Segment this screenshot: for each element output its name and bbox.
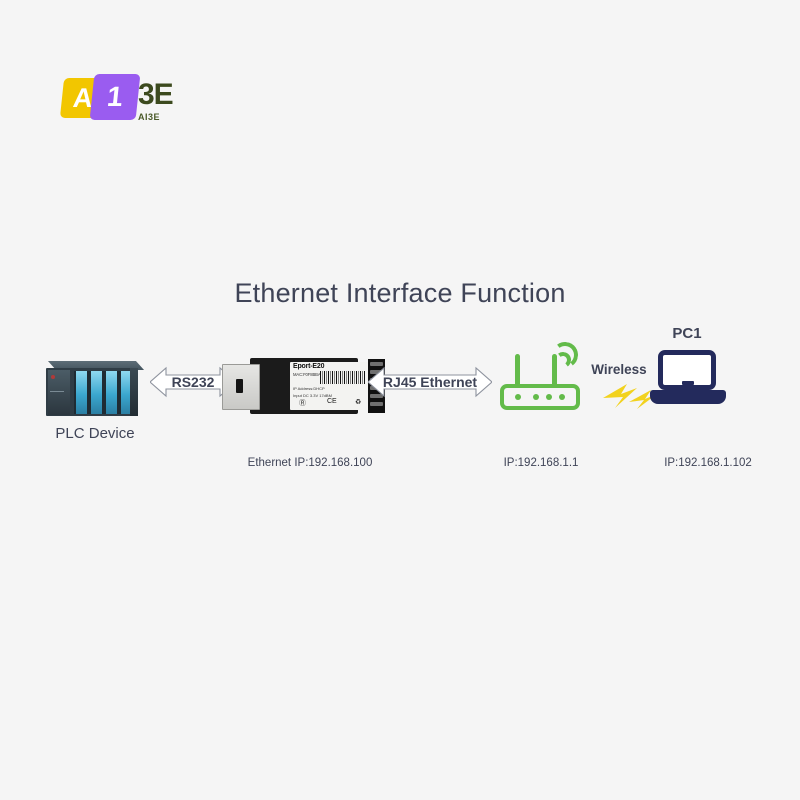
diagram-canvas: A 1 3E AI3E Ethernet Interface Function … [0,0,800,800]
laptop-base [650,390,726,404]
logo-subtext: AI3E [138,112,160,122]
pc1-ip-label: IP:192.168.1.102 [608,457,800,469]
eport-model-text: Eport-E20 [293,363,324,370]
lightning-bolt-icon [601,382,657,410]
laptop-graphic [650,350,726,406]
eport-certification-marks: Ⓡ CE ♻ [293,398,369,410]
logo-tile-one: 1 [90,74,141,120]
plc-io-slot [104,371,119,414]
eport-pcb: Eport-E20 MAC:F0F8BBA26D IP Address:DHCP… [250,358,358,414]
router-antenna [515,354,520,388]
eport-label-sticker: Eport-E20 MAC:F0F8BBA26D IP Address:DHCP… [290,362,372,410]
plc-status-led [51,375,55,379]
pc1-label: PC1 [622,325,752,342]
link-rj45: RJ45 Ethernet [368,362,492,402]
lightning-bolt-shape [601,382,657,410]
plc-cpu-line [50,391,64,392]
eport-serial-connector [222,364,260,410]
router-led [515,394,521,400]
laptop-trackpad [682,381,694,385]
eport-connector-slot [236,379,243,393]
plc-io-slot [74,371,89,414]
plc-device-graphic [46,361,142,419]
eport-barcode [320,371,366,384]
router-led [559,394,565,400]
ce-mark: CE [327,398,337,405]
plc-device-label: PLC Device [0,425,190,442]
rohs-mark: Ⓡ [299,398,306,408]
logo-wordmark: 3E [138,78,173,112]
rj45-arrow-shape [368,362,492,402]
plc-end-cap [130,368,138,416]
router-body [500,384,580,410]
router-led [546,394,552,400]
eport-ip-label: Ethernet IP:192.168.100 [130,457,490,469]
eport-module-graphic: Eport-E20 MAC:F0F8BBA26D IP Address:DHCP… [222,358,358,414]
eport-pin [370,402,383,406]
recycle-mark: ♻ [355,398,361,406]
plc-io-slot [89,371,104,414]
eport-ipmode-text: IP Address:DHCP [293,386,325,391]
diagram-title: Ethernet Interface Function [0,278,800,309]
brand-logo: A 1 3E AI3E [62,72,177,130]
router-led [533,394,539,400]
